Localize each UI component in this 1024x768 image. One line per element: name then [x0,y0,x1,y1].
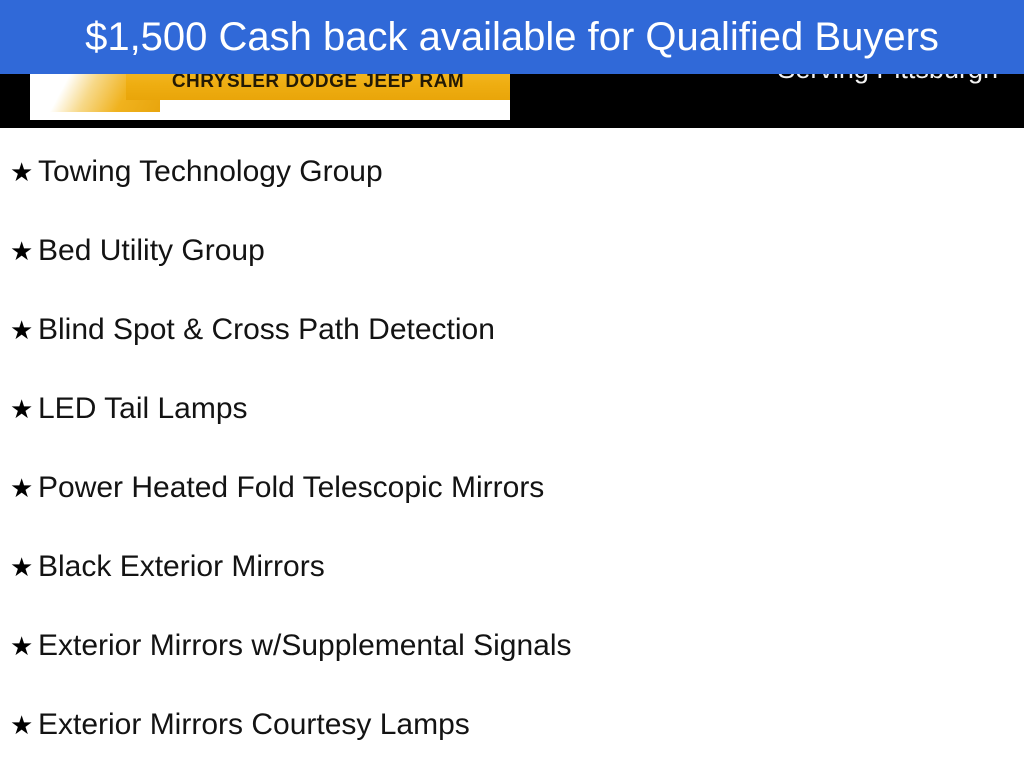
feature-item-label: Bed Utility Group [38,236,265,266]
feature-item-label: Power Heated Fold Telescopic Mirrors [38,473,544,503]
star-bullet-icon: ★ [10,317,38,343]
feature-item-label: Blind Spot & Cross Path Detection [38,315,495,345]
star-bullet-icon: ★ [10,712,38,738]
feature-item-label: Exterior Mirrors w/Supplemental Signals [38,631,572,661]
star-bullet-icon: ★ [10,238,38,264]
star-bullet-icon: ★ [10,633,38,659]
promo-banner-text: $1,500 Cash back available for Qualified… [85,17,939,57]
star-bullet-icon: ★ [10,475,38,501]
feature-list-item: ★Towing Technology Group [10,152,383,192]
feature-list-item: ★LED Tail Lamps [10,389,248,429]
feature-list-item: ★Black Exterior Mirrors [10,547,325,587]
feature-list-item: ★Blind Spot & Cross Path Detection [10,310,495,350]
promo-banner: $1,500 Cash back available for Qualified… [0,0,1024,74]
star-bullet-icon: ★ [10,396,38,422]
feature-item-label: Exterior Mirrors Courtesy Lamps [38,710,470,740]
feature-item-label: LED Tail Lamps [38,394,248,424]
star-bullet-icon: ★ [10,554,38,580]
feature-list-item: ★Exterior Mirrors Courtesy Lamps [10,705,470,745]
star-bullet-icon: ★ [10,159,38,185]
feature-list-item: ★Exterior Mirrors w/Supplemental Signals [10,626,572,666]
feature-list: ★Towing Technology Group★Bed Utility Gro… [0,128,1024,768]
slide-page: SOUTH HILLS CHRYSLER DODGE JEEP RAM Serv… [0,0,1024,768]
feature-item-label: Towing Technology Group [38,157,383,187]
feature-list-item: ★Bed Utility Group [10,231,265,271]
feature-item-label: Black Exterior Mirrors [38,552,325,582]
feature-list-item: ★Power Heated Fold Telescopic Mirrors [10,468,544,508]
